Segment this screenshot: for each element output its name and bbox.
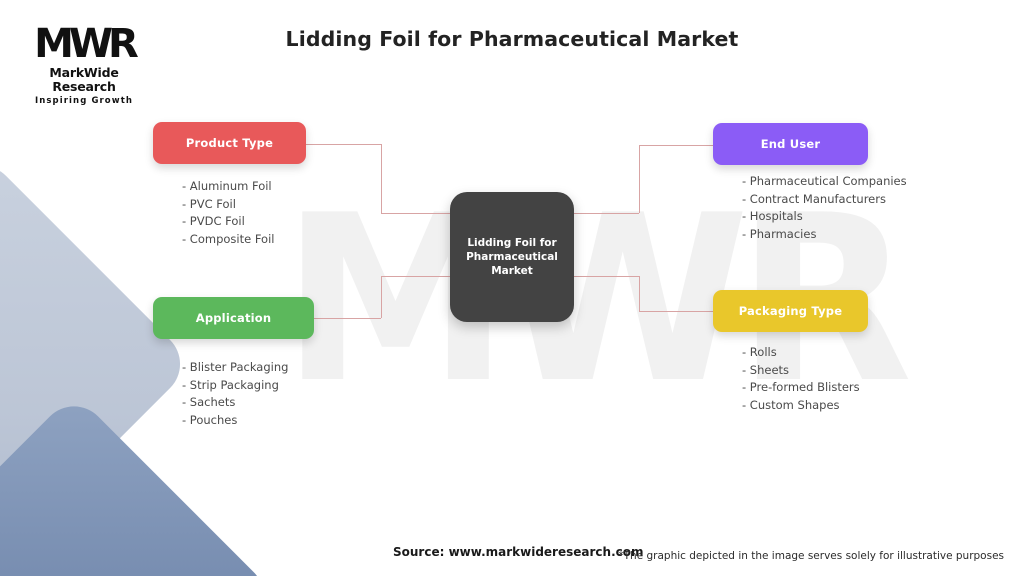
page-title: Lidding Foil for Pharmaceutical Market <box>0 27 1024 51</box>
branch-header-product-type[interactable]: Product Type <box>153 122 306 164</box>
branch-list-packaging-type: - Rolls - Sheets - Pre-formed Blisters -… <box>742 344 860 414</box>
list-item: - Pouches <box>182 412 288 430</box>
branch-label-end-user: End User <box>761 137 821 151</box>
connector-application-vertical <box>381 276 382 318</box>
connector-enduser-vertical <box>639 145 640 213</box>
connector-application-horizontal-outer <box>314 318 381 319</box>
decorative-shape-light <box>0 152 194 576</box>
list-item: - Pharmaceutical Companies <box>742 173 907 191</box>
branch-label-application: Application <box>196 311 272 325</box>
branch-label-product-type: Product Type <box>186 136 273 150</box>
list-item: - Contract Manufacturers <box>742 191 907 209</box>
source-text: Source: www.markwideresearch.com <box>393 545 643 559</box>
branch-label-packaging-type: Packaging Type <box>739 304 843 318</box>
list-item: - Sachets <box>182 394 288 412</box>
connector-product-horizontal-outer <box>306 144 381 145</box>
connector-application-horizontal-inner <box>381 276 453 277</box>
list-item: - Custom Shapes <box>742 397 860 415</box>
connector-enduser-horizontal-inner <box>571 213 639 214</box>
connector-product-horizontal-inner <box>381 213 453 214</box>
disclaimer-text: *The graphic depicted in the image serve… <box>618 550 1004 562</box>
list-item: - Composite Foil <box>182 231 274 249</box>
list-item: - Sheets <box>742 362 860 380</box>
branch-list-product-type: - Aluminum Foil - PVC Foil - PVDC Foil -… <box>182 178 274 248</box>
logo-company-name: MarkWide Research <box>18 66 150 94</box>
connector-packaging-vertical <box>639 276 640 312</box>
branch-list-application: - Blister Packaging - Strip Packaging - … <box>182 359 288 429</box>
list-item: - PVC Foil <box>182 196 274 214</box>
branch-header-application[interactable]: Application <box>153 297 314 339</box>
connector-packaging-horizontal-inner <box>571 276 639 277</box>
branch-header-packaging-type[interactable]: Packaging Type <box>713 290 868 332</box>
branch-header-end-user[interactable]: End User <box>713 123 868 165</box>
list-item: - Pre-formed Blisters <box>742 379 860 397</box>
list-item: - Aluminum Foil <box>182 178 274 196</box>
branch-list-end-user: - Pharmaceutical Companies - Contract Ma… <box>742 173 907 243</box>
list-item: - Hospitals <box>742 208 907 226</box>
list-item: - Pharmacies <box>742 226 907 244</box>
infographic-canvas: MWR MWR MarkWide Research Inspiring Grow… <box>0 0 1024 576</box>
connector-product-vertical <box>381 144 382 213</box>
list-item: - Rolls <box>742 344 860 362</box>
list-item: - Blister Packaging <box>182 359 288 377</box>
list-item: - Strip Packaging <box>182 377 288 395</box>
connector-packaging-horizontal-outer <box>639 311 714 312</box>
center-node: Lidding Foil for Pharmaceutical Market <box>450 192 574 322</box>
list-item: - PVDC Foil <box>182 213 274 231</box>
logo-tagline: Inspiring Growth <box>18 96 150 106</box>
connector-enduser-horizontal-outer <box>639 145 714 146</box>
